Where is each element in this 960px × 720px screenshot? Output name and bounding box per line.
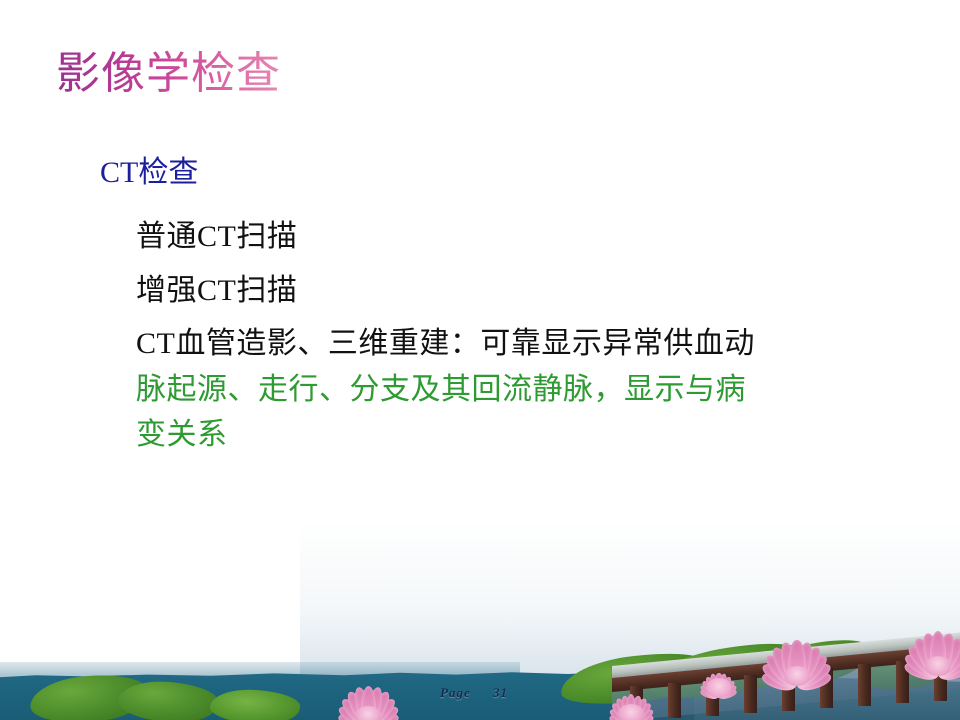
lotus-petal xyxy=(717,683,739,700)
list-item: 脉起源、走行、分支及其回流静脉，显示与病 xyxy=(136,367,926,413)
sky-haze xyxy=(300,520,960,720)
railing-baluster xyxy=(668,683,681,719)
lotus-petal xyxy=(630,712,654,720)
lotus-petal xyxy=(363,694,399,720)
lotus-petal xyxy=(351,686,376,720)
lotus-petal xyxy=(704,675,723,699)
railing-baluster xyxy=(934,657,947,701)
distant-lake-strip xyxy=(0,662,520,682)
lotus-petal xyxy=(791,650,832,690)
lotus-petal xyxy=(795,668,833,692)
lotus-petal xyxy=(902,659,939,683)
lotus-petal xyxy=(930,631,947,674)
lotus-petal xyxy=(793,659,835,692)
railing-baluster xyxy=(820,668,833,708)
lotus-petal xyxy=(762,650,803,690)
lotus-petal xyxy=(759,659,801,692)
lotus-petal xyxy=(790,644,826,689)
lotus-petal xyxy=(361,686,386,720)
lotus-petal xyxy=(901,649,942,681)
lotus-petal xyxy=(337,694,373,720)
lotus-petal xyxy=(788,640,805,684)
lotus-petal xyxy=(608,712,632,720)
railing-handrail-top xyxy=(612,632,960,679)
railing-baluster xyxy=(744,675,757,713)
lotus-petal xyxy=(715,675,734,699)
lotus-petal xyxy=(709,673,724,697)
lotus-petal xyxy=(362,689,394,720)
lotus-petal xyxy=(626,696,649,720)
railing-glass-panel xyxy=(612,636,960,720)
section-subheading: CT检查 xyxy=(100,155,198,191)
lotus-leaf-icon xyxy=(117,679,220,720)
lotus-petal xyxy=(361,686,376,720)
lotus-blossom-icon xyxy=(596,686,666,720)
bullet-list: 普通CT扫描 增强CT扫描 CT血管造影、三维重建：可靠显示异常供血动 脉起源、… xyxy=(136,214,926,458)
footer-page-number: 31 xyxy=(493,685,508,700)
lotus-petal xyxy=(930,631,958,676)
lotus-core xyxy=(355,706,381,720)
lotus-petal xyxy=(931,634,960,678)
lotus-petal xyxy=(612,696,635,720)
lotus-leaf-icon xyxy=(859,640,960,697)
lotus-petal xyxy=(336,710,369,720)
lotus-petal xyxy=(909,634,945,678)
lotus-petal xyxy=(936,659,960,683)
lotus-core xyxy=(784,666,810,686)
lotus-petal xyxy=(700,688,720,701)
lotus-leaf-icon xyxy=(749,632,875,696)
lotus-blossom-icon xyxy=(320,676,416,720)
lotus-petal xyxy=(903,641,943,680)
lotus-petal xyxy=(715,673,730,697)
distant-shoreline xyxy=(700,655,960,679)
lotus-petal xyxy=(699,683,721,700)
railing-baluster xyxy=(782,672,795,711)
lotus-blossom-icon xyxy=(742,630,852,684)
railing-baluster xyxy=(858,664,871,705)
lotus-petal xyxy=(714,673,723,696)
lotus-petal xyxy=(768,644,804,689)
lotus-petal xyxy=(626,694,637,720)
lotus-petal xyxy=(343,689,375,720)
lotus-core xyxy=(618,704,644,720)
lotus-petal xyxy=(718,688,738,701)
lotus-petal xyxy=(628,706,654,720)
lotus-petal xyxy=(626,694,644,720)
lotus-petal xyxy=(932,641,960,680)
lotus-blossom-icon xyxy=(884,620,960,674)
lotus-blossom-icon xyxy=(690,666,748,696)
lotus-core xyxy=(706,678,732,698)
lotus-petal xyxy=(618,694,636,720)
lotus-petal xyxy=(934,649,960,681)
lotus-leaf-icon xyxy=(558,646,713,712)
lotus-petal xyxy=(627,700,653,720)
lotus-petal xyxy=(761,668,799,692)
railing-baluster xyxy=(630,686,643,720)
footer-page-indicator: Page 31 xyxy=(440,685,508,701)
railing-baluster xyxy=(706,679,719,716)
lotus-leaf-icon xyxy=(645,634,811,707)
lotus-core xyxy=(925,656,951,676)
list-item: CT血管造影、三维重建：可靠显示异常供血动 xyxy=(136,321,926,367)
lotus-petal xyxy=(609,700,635,720)
water-band xyxy=(0,668,694,720)
railing-baluster xyxy=(896,661,909,704)
lotus-petal xyxy=(777,640,805,686)
list-item: 增强CT扫描 xyxy=(136,268,926,314)
water-band-right xyxy=(640,672,960,720)
list-item: 变关系 xyxy=(136,412,926,458)
footer-page-label: Page xyxy=(440,685,471,700)
lotus-petal xyxy=(700,678,722,699)
page-title: 影像学检查 xyxy=(56,48,281,100)
wooden-railing xyxy=(612,640,960,720)
lotus-leaf-icon xyxy=(209,688,301,720)
lotus-petal xyxy=(607,706,633,720)
lotus-petal xyxy=(918,631,946,676)
railing-wood-band xyxy=(612,644,960,692)
slide-canvas: 影像学检查 CT检查 普通CT扫描 增强CT扫描 CT血管造影、三维重建：可靠显… xyxy=(0,0,960,720)
lotus-petal xyxy=(335,702,371,720)
list-item: 普通CT扫描 xyxy=(136,214,926,260)
lotus-petal xyxy=(716,678,738,699)
lotus-leaf-icon xyxy=(28,671,150,720)
lotus-petal xyxy=(365,702,401,720)
lotus-petal xyxy=(366,710,399,720)
lotus-petal xyxy=(789,640,817,686)
